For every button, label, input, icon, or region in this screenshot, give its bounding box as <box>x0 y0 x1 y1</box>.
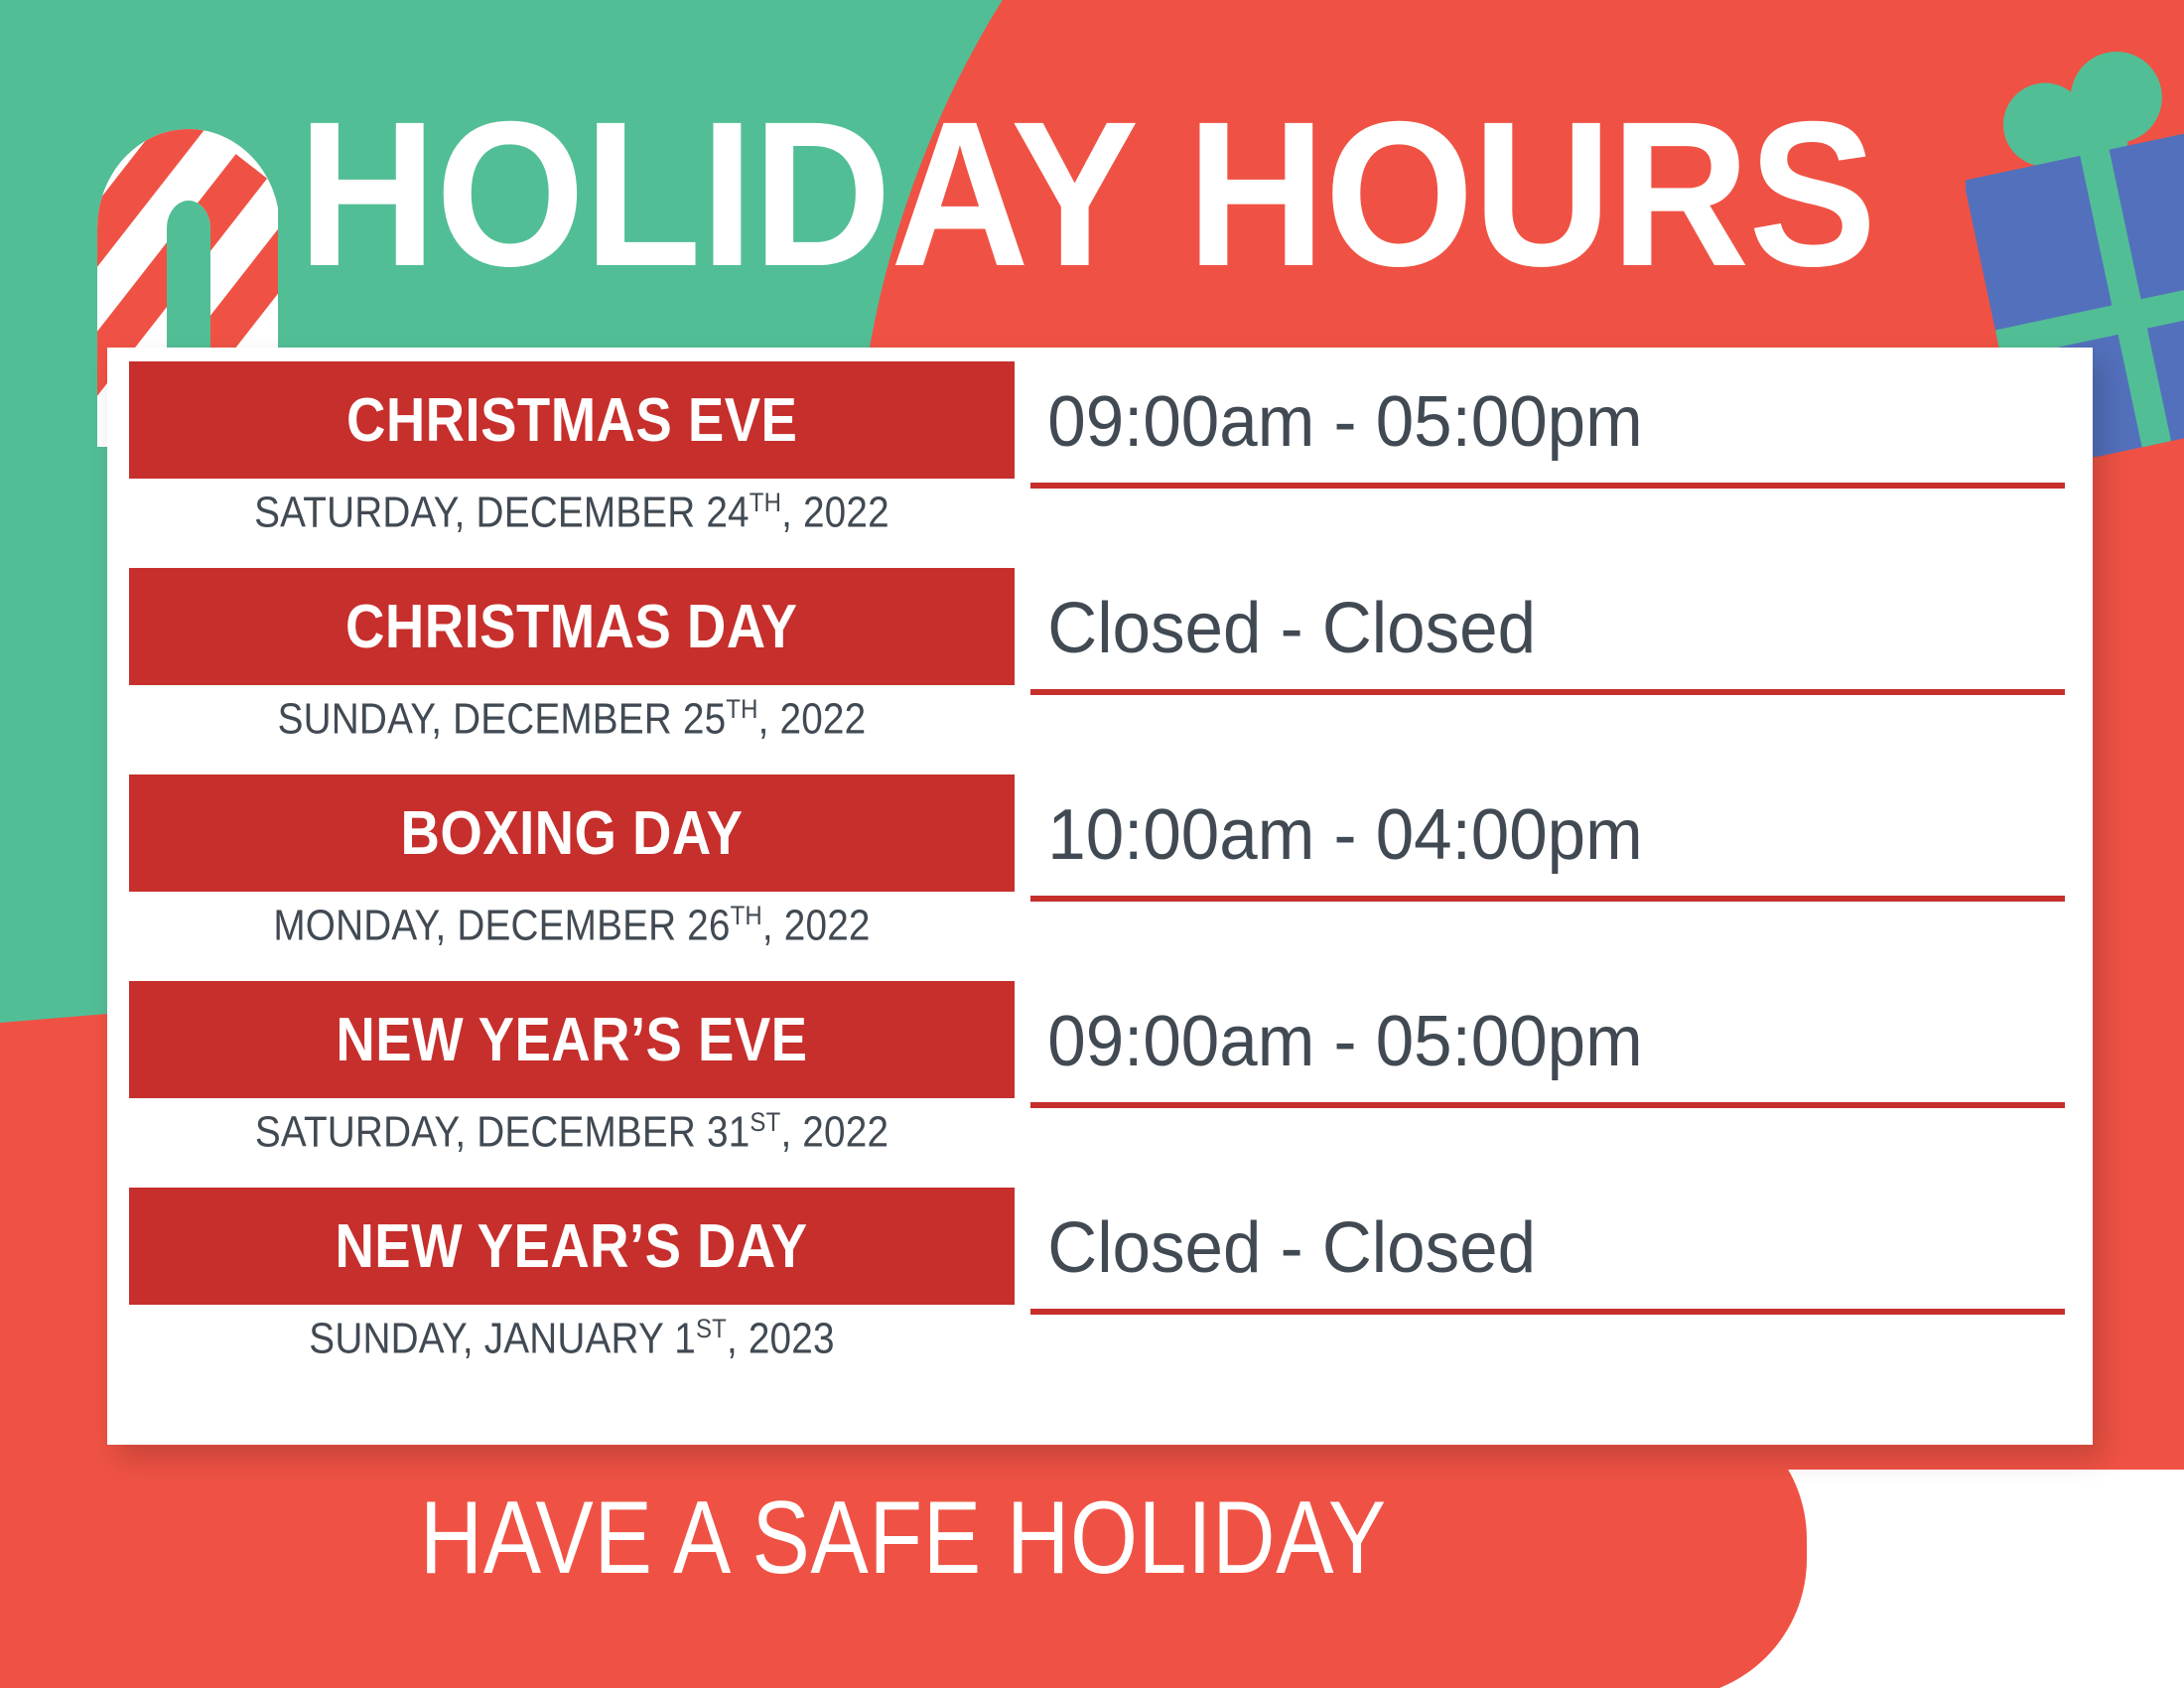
date-prefix: SATURDAY, DECEMBER 24 <box>254 489 750 537</box>
hours-cell: 09:00am - 05:00pm <box>1030 981 2065 1108</box>
date-ordinal-suffix: TH <box>726 693 757 724</box>
holiday-name-label: BOXING DAY <box>401 798 744 869</box>
holiday-date-label: SATURDAY, DECEMBER 24TH, 2022 <box>183 487 962 538</box>
holiday-name-bar: BOXING DAY <box>129 774 1015 892</box>
holiday-name-bar: CHRISTMAS DAY <box>129 568 1015 685</box>
holiday-name-bar: NEW YEAR’S DAY <box>129 1188 1015 1305</box>
schedule-row: CHRISTMAS DAYSUNDAY, DECEMBER 25TH, 2022… <box>107 568 2093 774</box>
holiday-name-label: CHRISTMAS DAY <box>345 592 797 662</box>
date-prefix: MONDAY, DECEMBER 26 <box>273 902 730 950</box>
holiday-date-label: SUNDAY, JANUARY 1ST, 2023 <box>183 1313 962 1364</box>
hours-cell: 09:00am - 05:00pm <box>1030 361 2065 489</box>
hours-label: 10:00am - 04:00pm <box>1030 794 1643 876</box>
holiday-date-label: MONDAY, DECEMBER 26TH, 2022 <box>183 900 962 951</box>
schedule-row: BOXING DAYMONDAY, DECEMBER 26TH, 202210:… <box>107 774 2093 981</box>
hours-label: Closed - Closed <box>1030 1207 1536 1289</box>
date-year: , 2022 <box>781 489 889 537</box>
hours-label: Closed - Closed <box>1030 588 1536 669</box>
date-ordinal-suffix: TH <box>731 900 762 930</box>
holiday-date-label: SUNDAY, DECEMBER 25TH, 2022 <box>183 693 962 745</box>
holiday-name-label: CHRISTMAS EVE <box>346 385 797 456</box>
date-prefix: SUNDAY, JANUARY 1 <box>309 1315 696 1363</box>
date-year: , 2022 <box>780 1108 888 1157</box>
date-ordinal-suffix: ST <box>696 1313 727 1343</box>
footer-message: HAVE A SAFE HOLIDAY <box>145 1479 1663 1598</box>
holiday-name-label: NEW YEAR’S EVE <box>336 1005 807 1075</box>
date-ordinal-suffix: TH <box>750 487 781 517</box>
schedule-row: NEW YEAR’S EVESATURDAY, DECEMBER 31ST, 2… <box>107 981 2093 1188</box>
hours-label: 09:00am - 05:00pm <box>1030 1001 1643 1082</box>
holiday-date-label: SATURDAY, DECEMBER 31ST, 2022 <box>183 1106 962 1158</box>
holiday-name-label: NEW YEAR’S DAY <box>336 1211 808 1282</box>
schedule-card: CHRISTMAS EVESATURDAY, DECEMBER 24TH, 20… <box>107 348 2093 1445</box>
hours-cell: Closed - Closed <box>1030 1188 2065 1315</box>
hours-label: 09:00am - 05:00pm <box>1030 381 1643 463</box>
date-year: , 2022 <box>762 902 871 950</box>
schedule-row: CHRISTMAS EVESATURDAY, DECEMBER 24TH, 20… <box>107 361 2093 568</box>
date-ordinal-suffix: ST <box>750 1106 780 1137</box>
hours-cell: 10:00am - 04:00pm <box>1030 774 2065 902</box>
date-year: , 2023 <box>727 1315 835 1363</box>
schedule-row: NEW YEAR’S DAYSUNDAY, JANUARY 1ST, 2023C… <box>107 1188 2093 1394</box>
holiday-name-bar: CHRISTMAS EVE <box>129 361 1015 479</box>
date-prefix: SATURDAY, DECEMBER 31 <box>255 1108 751 1157</box>
hours-cell: Closed - Closed <box>1030 568 2065 695</box>
schedule-rows: CHRISTMAS EVESATURDAY, DECEMBER 24TH, 20… <box>107 348 2093 1445</box>
holiday-name-bar: NEW YEAR’S EVE <box>129 981 1015 1098</box>
date-year: , 2022 <box>758 695 867 744</box>
date-prefix: SUNDAY, DECEMBER 25 <box>278 695 727 744</box>
holiday-hours-poster: HOLIDAY HOURS CHRISTMAS EVESATURDAY, DEC… <box>0 0 2184 1688</box>
page-title: HOLIDAY HOURS <box>298 91 1875 298</box>
